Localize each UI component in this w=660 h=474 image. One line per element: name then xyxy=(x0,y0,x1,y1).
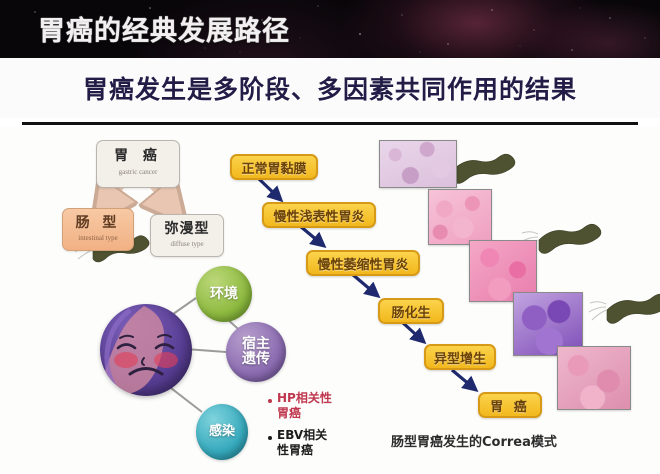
factor-infection-label: 感染 xyxy=(209,425,235,439)
root-label-cn: 胃 癌 xyxy=(97,145,179,165)
histology-gastric-cancer xyxy=(557,346,631,410)
flow-step-1-label: 慢性浅表性胃炎 xyxy=(273,206,364,225)
sad-stomach-face xyxy=(100,304,192,396)
intestinal-label-cn: 肠 型 xyxy=(63,212,133,232)
factor-circle-environment[interactable]: 环境 xyxy=(196,266,252,322)
flow-step-intestinal-metaplasia[interactable]: 肠化生 xyxy=(378,298,444,324)
flow-step-chronic-superficial-gastritis[interactable]: 慢性浅表性胃炎 xyxy=(262,202,376,228)
factor-host-label-line1: 宿主 xyxy=(242,337,270,352)
flow-step-normal-mucosa[interactable]: 正常胃黏膜 xyxy=(230,154,318,180)
flow-step-0-label: 正常胃黏膜 xyxy=(241,158,306,177)
diffuse-label-cn: 弥漫型 xyxy=(151,218,223,238)
subtitle-band: 胃癌发生是多阶段、多因素共同作用的结果 xyxy=(0,58,660,118)
diffuse-label-en: diffuse type xyxy=(151,240,223,248)
bullet-ebv-line2: 性胃癌 xyxy=(277,443,327,458)
gastric-cancer-root-box[interactable]: 胃 癌 gastric cancer xyxy=(96,140,180,188)
flow-step-2-label: 慢性萎缩性胃炎 xyxy=(317,254,408,273)
intestinal-label-en: intestinal type xyxy=(63,234,133,242)
bullet-hp-line2: 胃癌 xyxy=(277,406,332,421)
histology-chronic-superficial-gastritis xyxy=(428,189,492,245)
flow-step-chronic-atrophic-gastritis[interactable]: 慢性萎缩性胃炎 xyxy=(306,250,420,276)
bullet-dot-ebv xyxy=(268,436,272,440)
flow-step-4-label: 异型增生 xyxy=(434,348,486,367)
histology-normal-gastric-mucosa xyxy=(379,140,457,188)
flow-step-3-label: 肠化生 xyxy=(391,302,430,321)
page-title: 胃癌的经典发展路径 xyxy=(38,9,290,48)
intestinal-type-box[interactable]: 肠 型 intestinal type xyxy=(62,208,134,251)
diffuse-type-box[interactable]: 弥漫型 diffuse type xyxy=(150,214,224,257)
flow-step-gastric-cancer[interactable]: 胃 癌 xyxy=(478,392,542,418)
bullet-ebv-related-gastric-cancer: EBV相关 性胃癌 xyxy=(277,428,327,458)
slide-root: 胃癌的经典发展路径 胃癌发生是多阶段、多因素共同作用的结果 xyxy=(0,0,660,474)
figure-canvas: 胃 癌 gastric cancer 肠 型 intestinal type 弥… xyxy=(0,126,660,474)
factor-circle-infection[interactable]: 感染 xyxy=(196,404,248,460)
horizontal-divider xyxy=(22,122,638,125)
bullet-hp-related-gastric-cancer: HP相关性 胃癌 xyxy=(277,391,332,421)
factor-circle-host-genetics[interactable]: 宿主 遗传 xyxy=(226,322,286,382)
factor-host-label-line2: 遗传 xyxy=(242,352,270,367)
stomach-character-illustration xyxy=(100,304,192,396)
header-band: 胃癌的经典发展路径 xyxy=(0,0,660,58)
bullet-ebv-line1: EBV相关 xyxy=(277,428,327,443)
flow-step-dysplasia[interactable]: 异型增生 xyxy=(424,344,496,370)
root-label-en: gastric cancer xyxy=(97,168,179,176)
bullet-hp-line1: HP相关性 xyxy=(277,391,332,406)
factor-environment-label: 环境 xyxy=(210,287,238,302)
flow-step-5-label: 胃 癌 xyxy=(490,396,530,415)
figure-caption: 肠型胃癌发生的Correa模式 xyxy=(391,431,557,450)
bullet-dot-hp xyxy=(268,399,272,403)
subtitle-text: 胃癌发生是多阶段、多因素共同作用的结果 xyxy=(0,70,660,106)
